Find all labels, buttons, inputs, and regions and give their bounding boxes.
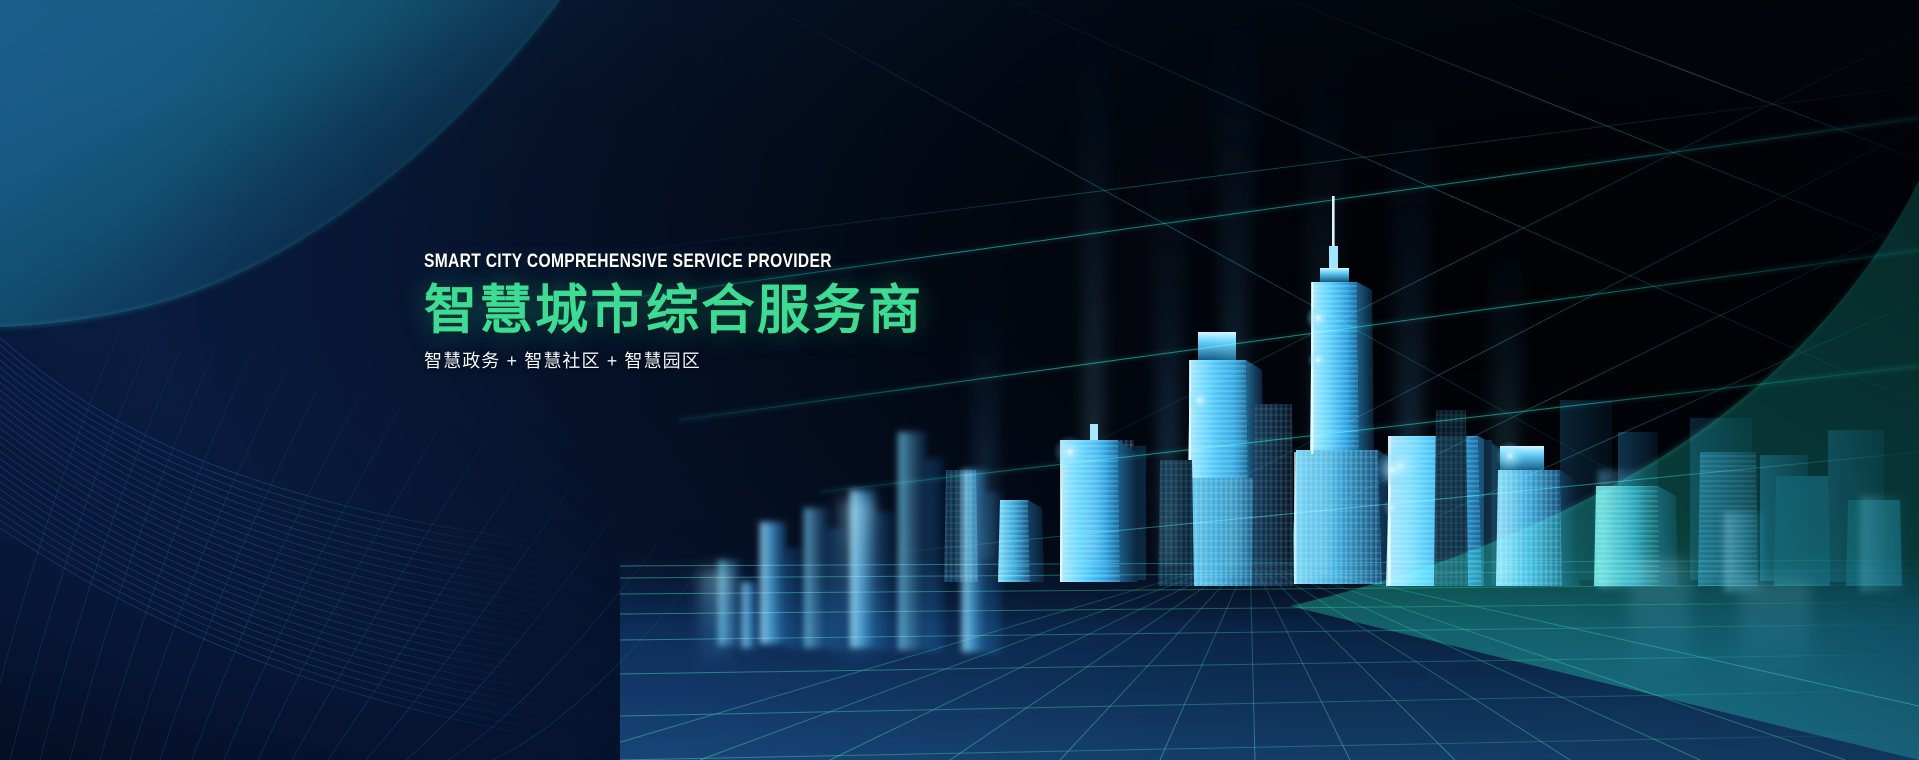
- top-left-wave: [0, 0, 1919, 760]
- ground-grid: [0, 0, 1919, 760]
- wireframe-mesh: [0, 0, 1919, 760]
- hero-tower: [1292, 196, 1398, 584]
- dark-towers: [1158, 404, 1468, 586]
- hero-banner: SMART CITY COMPREHENSIVE SERVICE PROVIDE…: [0, 0, 1919, 760]
- tower-sparkles: [1187, 305, 1410, 518]
- vignette: [0, 0, 1919, 760]
- foreground-blocks-soft: [0, 0, 1919, 760]
- hero-text-block: SMART CITY COMPREHENSIVE SERVICE PROVIDE…: [424, 249, 934, 373]
- light-beams: [0, 0, 1919, 760]
- foreground-blocks: [0, 0, 1919, 760]
- stepped-tower: [1174, 332, 1278, 586]
- sky-base-gradient: [0, 0, 1919, 760]
- cylinder-tower: [1594, 486, 1678, 586]
- slim-towers: [944, 470, 1044, 582]
- sky-navy-glow: [0, 0, 1919, 760]
- green-sweep: [0, 0, 1919, 760]
- sky-dark-overlay: [0, 0, 1919, 760]
- hero-eyebrow: SMART CITY COMPREHENSIVE SERVICE PROVIDE…: [424, 249, 832, 273]
- hero-headline: 智慧城市综合服务商: [424, 281, 934, 341]
- right-slabs: [1698, 452, 1902, 586]
- network-lines: [0, 0, 1919, 760]
- midrise-left: [1053, 424, 1138, 582]
- hero-subhead: 智慧政务 + 智慧社区 + 智慧园区: [424, 349, 934, 373]
- city-skyline: [0, 0, 1919, 760]
- glass-tower: [1378, 436, 1502, 586]
- block-tower: [1495, 441, 1580, 586]
